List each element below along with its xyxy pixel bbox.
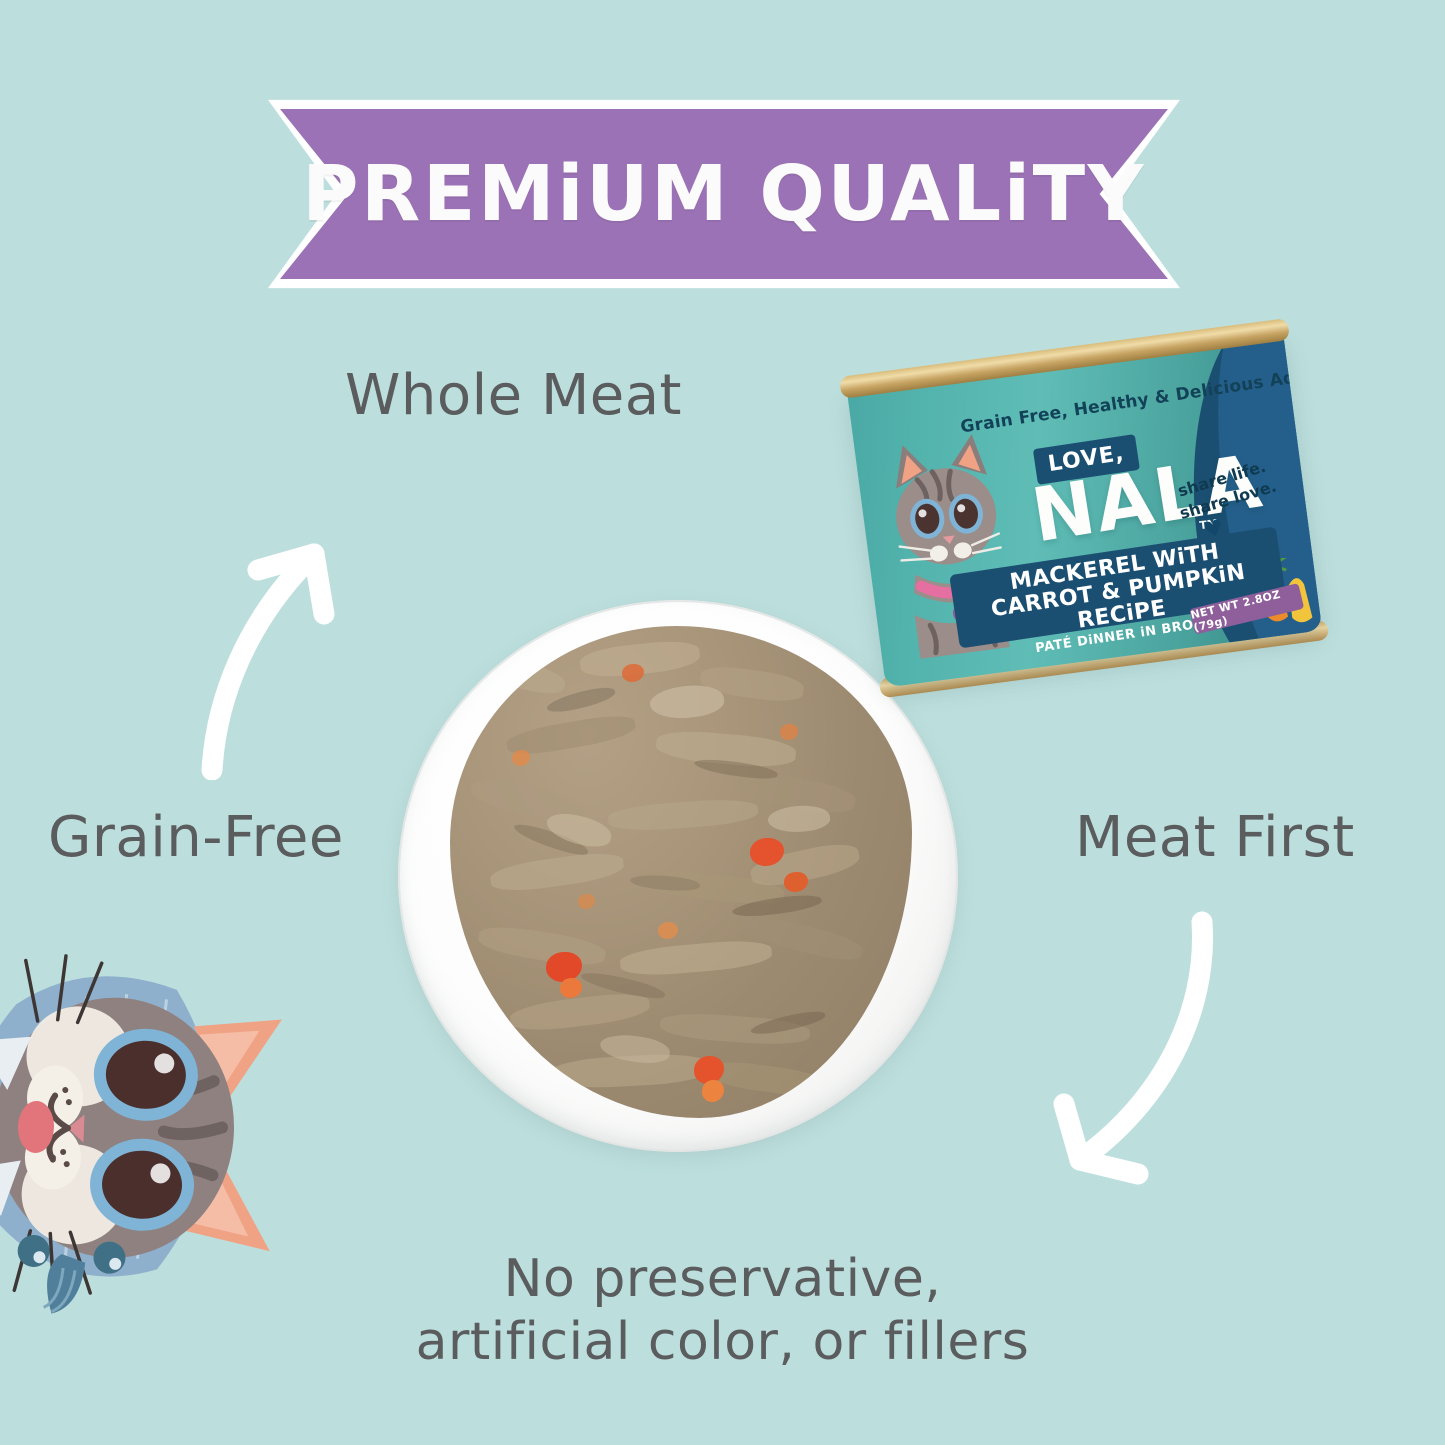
no-preservative-line-1: No preservative,: [504, 1249, 942, 1309]
feature-label-grain-free: Grain-Free: [48, 805, 344, 870]
feature-label-meat-first: Meat First: [1075, 805, 1355, 870]
product-infographic: PREMiUM QUALiTY Whole Meat Grain-Free Me…: [0, 0, 1445, 1445]
banner-title: PREMiUM QUALiTY: [268, 96, 1180, 292]
curved-arrow-up-right-icon: [186, 470, 416, 780]
food-plate: [398, 600, 958, 1152]
curved-arrow-down-left-icon: [1012, 892, 1252, 1202]
feature-label-whole-meat: Whole Meat: [345, 363, 682, 428]
product-can: Grain Free, Healthy & Delicious Adult Ca…: [834, 309, 1338, 718]
nala-cat-mascot-illustration: [0, 921, 329, 1335]
premium-quality-banner: PREMiUM QUALiTY: [268, 96, 1180, 292]
